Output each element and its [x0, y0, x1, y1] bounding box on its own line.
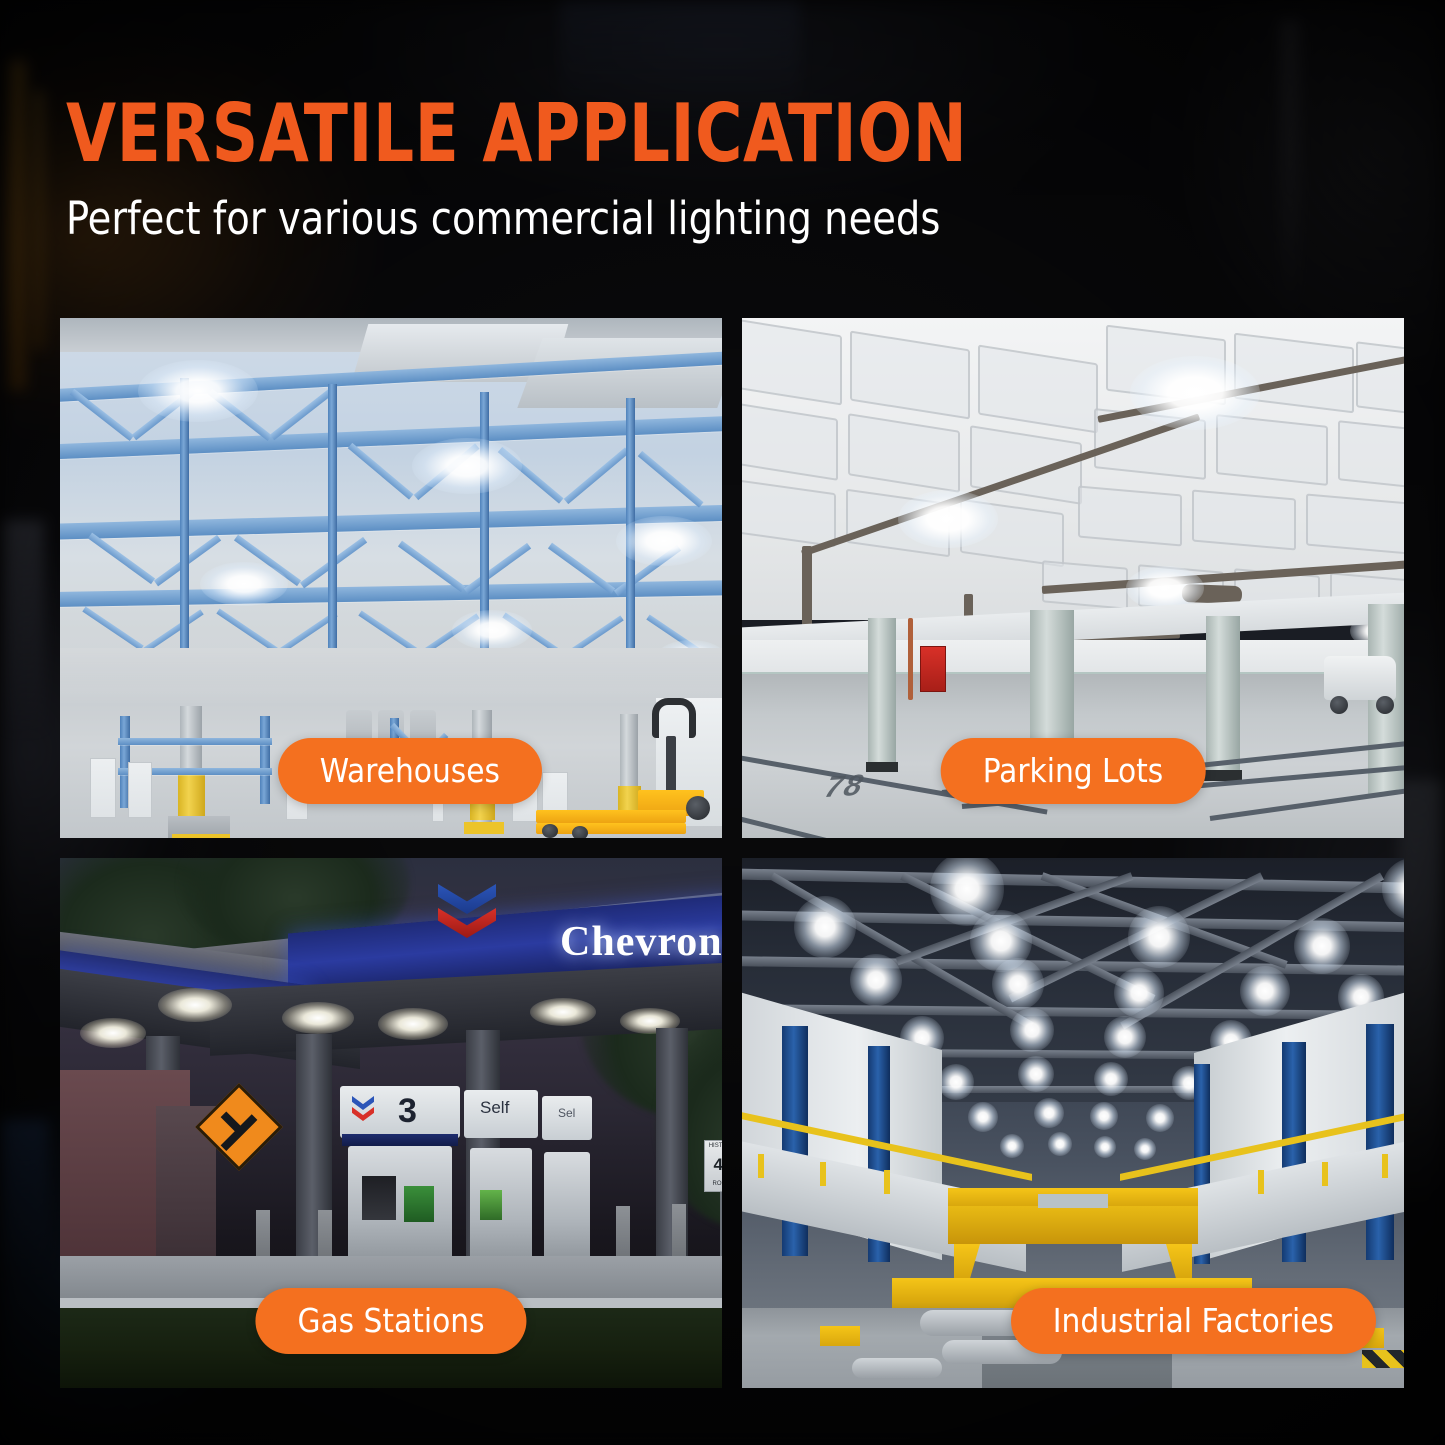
- chevron-brand-text: Chevron: [560, 918, 722, 966]
- pump-display: [362, 1176, 396, 1220]
- pump-number: 3: [398, 1092, 417, 1131]
- crane-walkway: [1038, 1194, 1108, 1208]
- panel-label-gas-stations[interactable]: Gas Stations: [255, 1288, 526, 1354]
- pump-self-label: Self: [480, 1098, 509, 1118]
- panel-warehouse[interactable]: Warehouses: [60, 318, 722, 838]
- panel-parking-lots[interactable]: 78 Parking Lots: [742, 318, 1404, 838]
- page-title: VERSATILE APPLICATION: [66, 96, 1056, 173]
- hazard-stripe: [1362, 1350, 1404, 1368]
- application-grid: Warehouses: [60, 318, 1386, 1388]
- poster-canvas: VERSATILE APPLICATION Perfect for variou…: [0, 0, 1445, 1445]
- pump-panel-green: [404, 1186, 434, 1222]
- chevron-logo-icon: [438, 884, 496, 914]
- header: VERSATILE APPLICATION Perfect for variou…: [66, 96, 1166, 242]
- route-shield-sign: HISTORIC 40 ROUTE: [704, 1140, 722, 1192]
- page-subtitle: Perfect for various commercial lighting …: [66, 195, 1111, 242]
- panel-gas-stations[interactable]: Chevron: [60, 858, 722, 1388]
- panel-label-warehouses[interactable]: Warehouses: [278, 738, 542, 804]
- pump-panel-green-2: [480, 1190, 502, 1220]
- panel-industrial-factories[interactable]: Industrial Factories: [742, 858, 1404, 1388]
- panel-label-industrial-factories[interactable]: Industrial Factories: [1011, 1288, 1376, 1354]
- panel-label-parking-lots[interactable]: Parking Lots: [941, 738, 1206, 804]
- pump-brand-band: [342, 1134, 458, 1146]
